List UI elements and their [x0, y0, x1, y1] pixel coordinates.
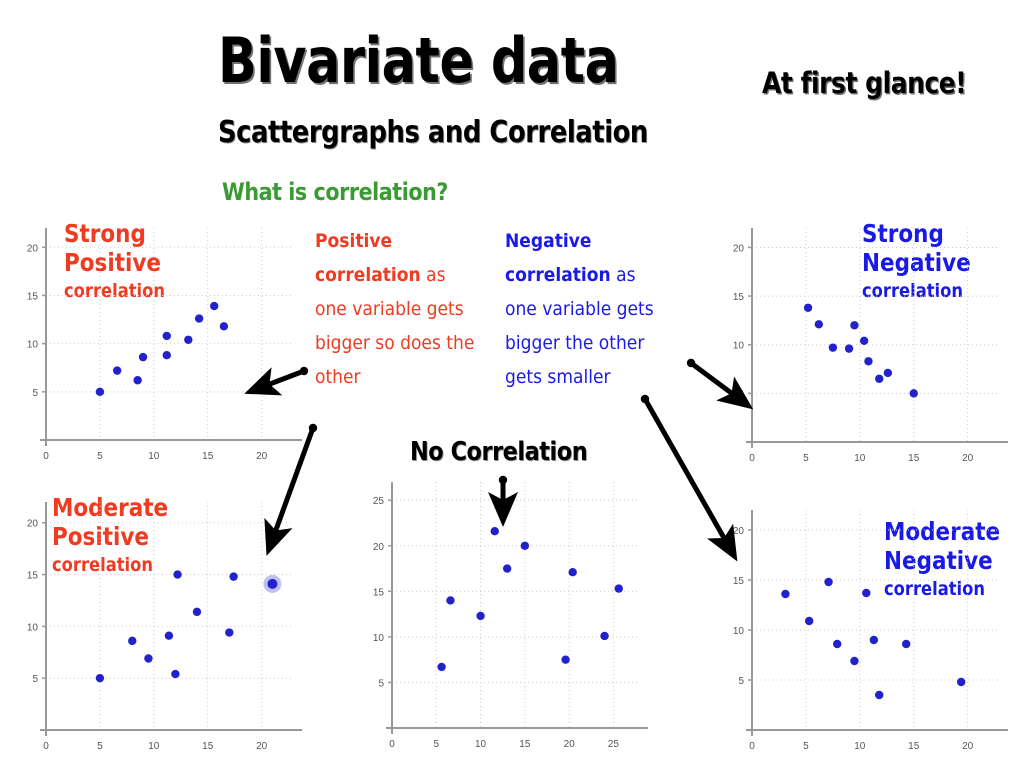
y-axis-tick-label: 10	[733, 341, 745, 352]
data-point	[957, 678, 965, 686]
data-point	[600, 632, 608, 640]
data-point	[96, 674, 104, 682]
chart-strong-positive: 051015205101520	[14, 218, 304, 468]
x-axis-tick-label: 0	[43, 451, 49, 462]
x-axis-tick-label: 15	[908, 741, 920, 752]
y-axis-tick-label: 5	[378, 678, 384, 689]
x-axis-tick-label: 0	[749, 741, 755, 752]
chart-strong-negative: 051015205101520	[718, 218, 1010, 470]
positive-correlation-term: Positive correlation	[315, 230, 421, 286]
data-point	[139, 353, 147, 361]
no-correlation-heading: No Correlation	[410, 437, 587, 467]
data-point	[884, 369, 892, 377]
data-point	[193, 608, 201, 616]
arrow-tail-dot	[687, 359, 695, 367]
slide-canvas: Bivariate data At first glance! Scatterg…	[0, 0, 1024, 768]
y-axis-tick-label: 15	[373, 587, 385, 598]
data-point	[220, 322, 228, 330]
data-point	[781, 590, 789, 598]
arrow-tail-dot	[641, 395, 649, 403]
data-point	[184, 336, 192, 344]
page-title: Bivariate data	[218, 24, 618, 97]
at-first-glance-label: At first glance!	[762, 66, 966, 100]
page-subtitle: Scattergraphs and Correlation	[218, 115, 648, 150]
y-axis-tick-label: 10	[27, 340, 39, 351]
negative-correlation-explanation: Negative correlation as one variable get…	[505, 224, 667, 394]
data-point	[561, 655, 569, 663]
x-axis-tick-label: 5	[97, 451, 103, 462]
data-point	[163, 332, 171, 340]
data-point	[225, 628, 233, 636]
x-axis-tick-label: 10	[854, 741, 866, 752]
chart-moderate-positive: 051015205101520	[14, 492, 304, 758]
y-axis-tick-label: 10	[373, 633, 385, 644]
positive-correlation-explanation: Positive correlation as one variable get…	[315, 224, 477, 394]
data-point	[864, 357, 872, 365]
x-axis-tick-label: 10	[148, 451, 160, 462]
scatter-plot-moderate-positive: 051015205101520	[14, 492, 304, 758]
data-point	[210, 302, 218, 310]
scatter-plot-strong-positive: 051015205101520	[14, 218, 304, 468]
data-point	[615, 584, 623, 592]
data-point	[171, 670, 179, 678]
data-point-highlighted[interactable]	[267, 579, 277, 589]
data-point	[824, 578, 832, 586]
data-point	[113, 366, 121, 374]
y-axis-tick-label: 20	[373, 542, 385, 553]
data-point	[133, 376, 141, 384]
y-axis-tick-label: 20	[733, 243, 745, 254]
x-axis-tick-label: 0	[389, 739, 395, 750]
x-axis-tick-label: 15	[202, 451, 214, 462]
scatter-plot-no-correlation: 0510152025510152025	[358, 472, 650, 758]
data-point	[476, 612, 484, 620]
x-axis-tick-label: 20	[256, 741, 268, 752]
data-point	[144, 654, 152, 662]
data-point	[875, 375, 883, 383]
data-point	[829, 343, 837, 351]
y-axis-tick-label: 20	[27, 243, 39, 254]
x-axis-tick-label: 0	[749, 453, 755, 464]
data-point	[163, 351, 171, 359]
x-axis-tick-label: 20	[256, 451, 268, 462]
x-axis-tick-label: 25	[608, 739, 620, 750]
y-axis-tick-label: 20	[27, 519, 39, 530]
x-axis-tick-label: 5	[97, 741, 103, 752]
scatter-plot-strong-negative: 051015205101520	[718, 218, 1010, 470]
data-point	[870, 636, 878, 644]
y-axis-tick-label: 25	[373, 496, 385, 507]
chart-moderate-negative: 051015205101520	[718, 500, 1010, 758]
y-axis-tick-label: 5	[738, 389, 744, 400]
data-point	[491, 527, 499, 535]
data-point	[173, 570, 181, 578]
data-point	[805, 617, 813, 625]
data-point	[815, 320, 823, 328]
x-axis-tick-label: 20	[564, 739, 576, 750]
data-point	[850, 657, 858, 665]
x-axis-tick-label: 10	[148, 741, 160, 752]
x-axis-tick-label: 15	[519, 739, 531, 750]
x-axis-tick-label: 10	[854, 453, 866, 464]
x-axis-tick-label: 5	[803, 741, 809, 752]
data-point	[833, 640, 841, 648]
y-axis-tick-label: 10	[733, 626, 745, 637]
data-point	[446, 596, 454, 604]
chart-no-correlation: 0510152025510152025	[358, 472, 650, 758]
x-axis-tick-label: 10	[475, 739, 487, 750]
data-point	[845, 344, 853, 352]
data-point	[229, 572, 237, 580]
data-point	[503, 564, 511, 572]
data-point	[521, 542, 529, 550]
negative-correlation-term: Negative correlation	[505, 230, 611, 286]
data-point	[568, 568, 576, 576]
x-axis-tick-label: 5	[434, 739, 440, 750]
y-axis-tick-label: 15	[733, 292, 745, 303]
scatter-plot-moderate-negative: 051015205101520	[718, 500, 1010, 758]
y-axis-tick-label: 5	[738, 676, 744, 687]
data-point	[195, 314, 203, 322]
data-point	[437, 663, 445, 671]
data-point	[850, 321, 858, 329]
data-point	[910, 389, 918, 397]
data-point	[96, 388, 104, 396]
arrow-tail-dot	[309, 424, 317, 432]
x-axis-tick-label: 20	[962, 741, 974, 752]
x-axis-tick-label: 15	[202, 741, 214, 752]
x-axis-tick-label: 0	[43, 741, 49, 752]
data-point	[860, 337, 868, 345]
x-axis-tick-label: 15	[908, 453, 920, 464]
y-axis-tick-label: 20	[733, 526, 745, 537]
y-axis-tick-label: 10	[27, 622, 39, 633]
data-point	[875, 691, 883, 699]
y-axis-tick-label: 15	[733, 576, 745, 587]
y-axis-tick-label: 15	[27, 571, 39, 582]
data-point	[128, 637, 136, 645]
x-axis-tick-label: 20	[962, 453, 974, 464]
what-is-correlation-heading: What is correlation?	[222, 178, 448, 206]
data-point	[165, 631, 173, 639]
data-point	[804, 304, 812, 312]
data-point	[862, 589, 870, 597]
x-axis-tick-label: 5	[803, 453, 809, 464]
arrow-to-moderate-negative	[645, 399, 728, 545]
y-axis-tick-label: 5	[32, 674, 38, 685]
data-point	[902, 640, 910, 648]
y-axis-tick-label: 15	[27, 291, 39, 302]
y-axis-tick-label: 5	[32, 388, 38, 399]
